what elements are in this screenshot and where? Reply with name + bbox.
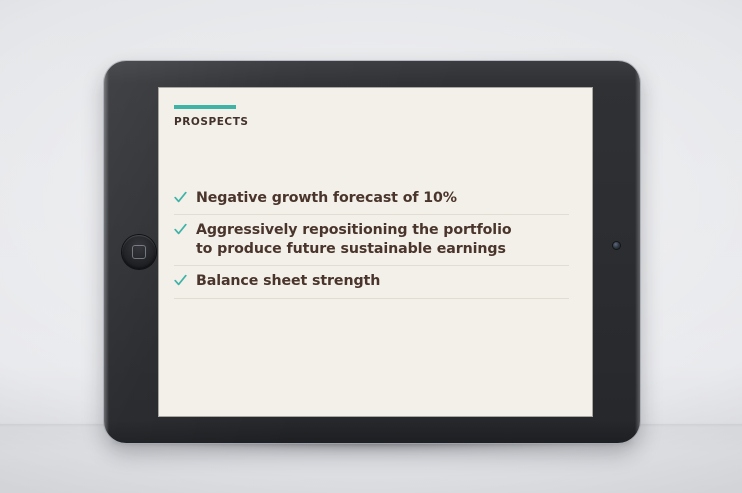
tablet-screen[interactable]: PROSPECTS Negative growth forecast of 10… [158,87,593,417]
list-item-label: Balance sheet strength [196,272,380,290]
check-icon [174,191,187,205]
list-item-label: Negative growth forecast of 10% [196,189,457,207]
title-accent-bar [174,105,236,109]
list-item: Aggressively repositioning the portfolio… [174,215,569,266]
tablet-device: PROSPECTS Negative growth forecast of 10… [104,61,640,443]
presentation-slide: PROSPECTS Negative growth forecast of 10… [158,87,593,417]
check-icon [174,223,187,237]
list-item-label: Aggressively repositioning the portfolio… [196,221,511,258]
home-button[interactable] [122,235,156,269]
list-item: Balance sheet strength [174,266,569,298]
front-camera-icon [613,242,620,249]
check-icon [174,274,187,288]
page-title: PROSPECTS [174,116,571,128]
slide-header: PROSPECTS [174,105,571,128]
list-item: Negative growth forecast of 10% [174,185,569,215]
bullet-list: Negative growth forecast of 10% Aggressi… [174,185,571,299]
